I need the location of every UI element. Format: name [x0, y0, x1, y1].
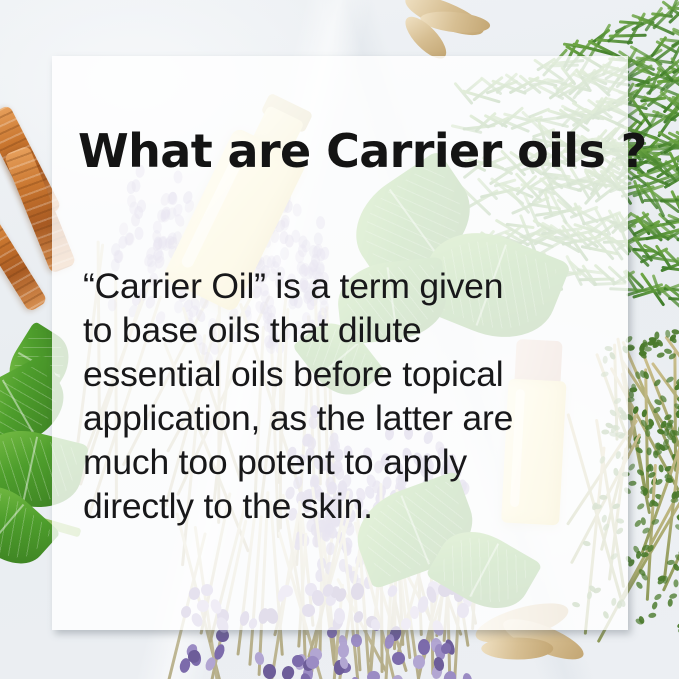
thyme-leaf [673, 579, 678, 587]
thyme-leaf [666, 418, 675, 427]
thyme-leaf [653, 592, 662, 601]
lavender-bud [280, 664, 296, 679]
lavender-bud [413, 655, 425, 669]
thyme-leaf [674, 523, 679, 531]
thyme-leaf [653, 449, 662, 456]
thyme-leaf [628, 480, 637, 486]
thyme-leaf [648, 612, 657, 618]
thyme-leaf [646, 447, 651, 455]
thyme-leaf [640, 489, 648, 495]
thyme-leaf [639, 419, 648, 428]
thyme-leaf [651, 601, 658, 610]
white-overlay-card [52, 56, 628, 630]
lavender-bud [391, 651, 406, 666]
thyme-leaf [628, 462, 637, 471]
thyme-leaf [656, 351, 665, 358]
lavender-bud [253, 651, 265, 666]
thyme-leaf [656, 428, 665, 435]
thyme-leaf [671, 436, 677, 444]
twine-strand [481, 638, 553, 660]
thyme-leaf [668, 599, 674, 607]
thyme-leaf [635, 581, 644, 590]
thyme-leaf [627, 397, 635, 403]
thyme-leaf [644, 429, 650, 438]
lavender-bud [442, 671, 453, 679]
thyme-leaf [641, 409, 648, 418]
lavender-bud [418, 639, 430, 655]
lavender-bud [263, 663, 276, 678]
